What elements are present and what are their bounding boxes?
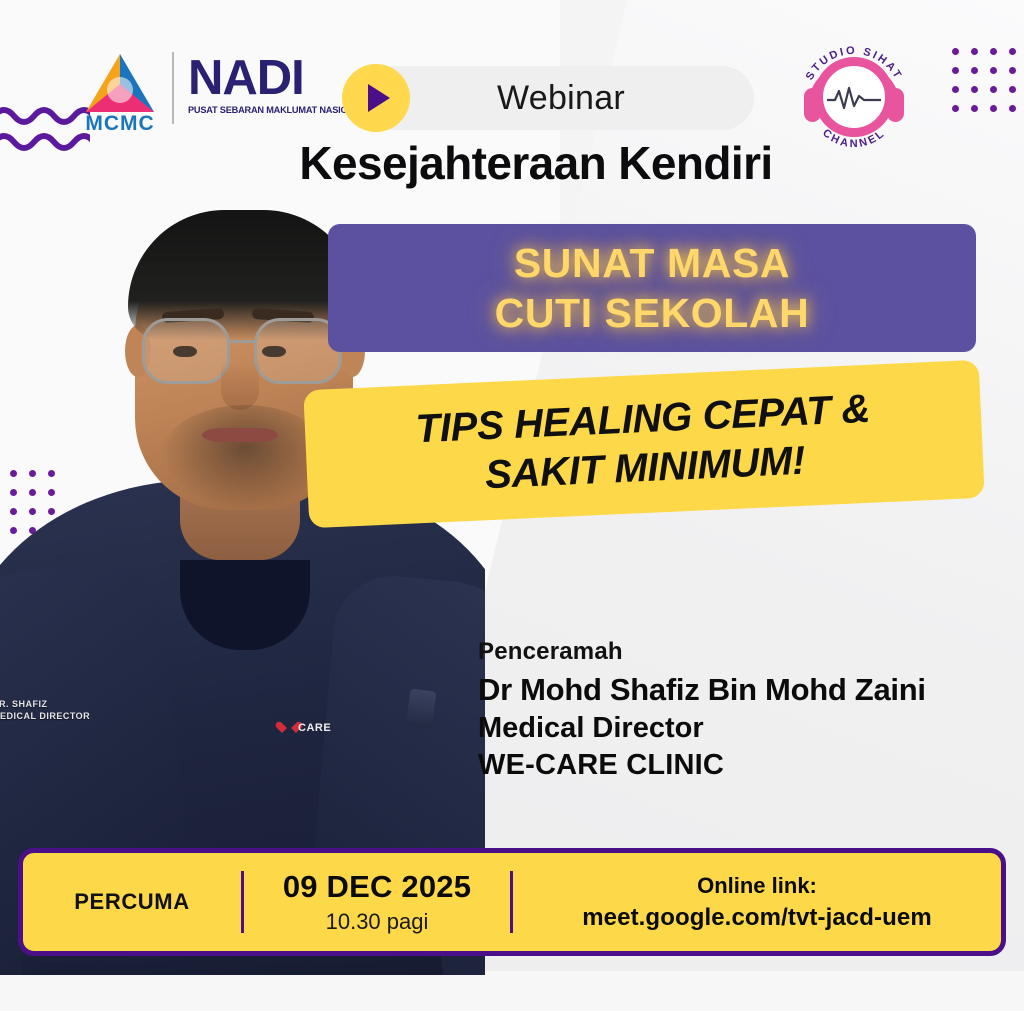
mcmc-logo: MCMC bbox=[60, 54, 180, 132]
mcmc-logo-text: MCMC bbox=[60, 112, 180, 136]
price-cell: PERCUMA bbox=[23, 889, 241, 915]
heartbeat-pulse-icon bbox=[827, 86, 881, 112]
purple-banner-line1: SUNAT MASA bbox=[514, 239, 790, 287]
datetime-cell: 09 DEC 2025 10.30 pagi bbox=[244, 869, 510, 935]
topic-banner-purple: SUNAT MASA CUTI SEKOLAH bbox=[328, 224, 976, 352]
event-time: 10.30 pagi bbox=[326, 909, 429, 935]
heart-icon bbox=[282, 722, 295, 734]
online-link-cell: Online link: meet.google.com/tvt-jacd-ue… bbox=[513, 873, 1001, 932]
nametag-line1: DR. SHAFIZ bbox=[0, 698, 90, 710]
speaker-name: Dr Mohd Shafiz Bin Mohd Zaini bbox=[478, 672, 926, 708]
online-link-label: Online link: bbox=[697, 873, 817, 899]
event-date: 09 DEC 2025 bbox=[283, 869, 471, 905]
nadi-logo: NADI PUSAT SEBARAN MAKLUMAT NASIONAL bbox=[188, 52, 324, 115]
clinic-chest-logo: CARE bbox=[282, 722, 331, 734]
page-title: Kesejahteraan Kendiri bbox=[0, 136, 1024, 190]
webinar-badge: Webinar bbox=[344, 66, 754, 130]
nametag-line2: MEDICAL DIRECTOR bbox=[0, 710, 90, 722]
dot-grid-topright-icon bbox=[952, 48, 1016, 112]
price-label: PERCUMA bbox=[74, 889, 189, 915]
speaker-role: Medical Director bbox=[478, 712, 926, 745]
sleeve-badge-icon bbox=[405, 688, 436, 729]
background-bottom-strip bbox=[0, 971, 1024, 1011]
logo-divider bbox=[172, 52, 174, 124]
speaker-info: Penceramah Dr Mohd Shafiz Bin Mohd Zaini… bbox=[478, 638, 926, 782]
nadi-logo-subtitle: PUSAT SEBARAN MAKLUMAT NASIONAL bbox=[188, 105, 324, 115]
play-button-icon[interactable] bbox=[342, 64, 410, 132]
purple-banner-line2: CUTI SEKOLAH bbox=[495, 289, 810, 337]
online-link-url[interactable]: meet.google.com/tvt-jacd-uem bbox=[582, 904, 932, 932]
mcmc-triangle-icon bbox=[72, 54, 168, 112]
uniform-nametag: DR. SHAFIZ MEDICAL DIRECTOR bbox=[0, 698, 90, 722]
speaker-label: Penceramah bbox=[478, 638, 926, 666]
event-info-bar: PERCUMA 09 DEC 2025 10.30 pagi Online li… bbox=[18, 848, 1006, 956]
speaker-organisation: WE-CARE CLINIC bbox=[478, 749, 926, 782]
nadi-logo-text: NADI bbox=[188, 52, 324, 104]
chest-logo-text: CARE bbox=[298, 722, 331, 734]
webinar-poster: DR. SHAFIZ MEDICAL DIRECTOR CARE MCMC NA… bbox=[0, 0, 1024, 1011]
